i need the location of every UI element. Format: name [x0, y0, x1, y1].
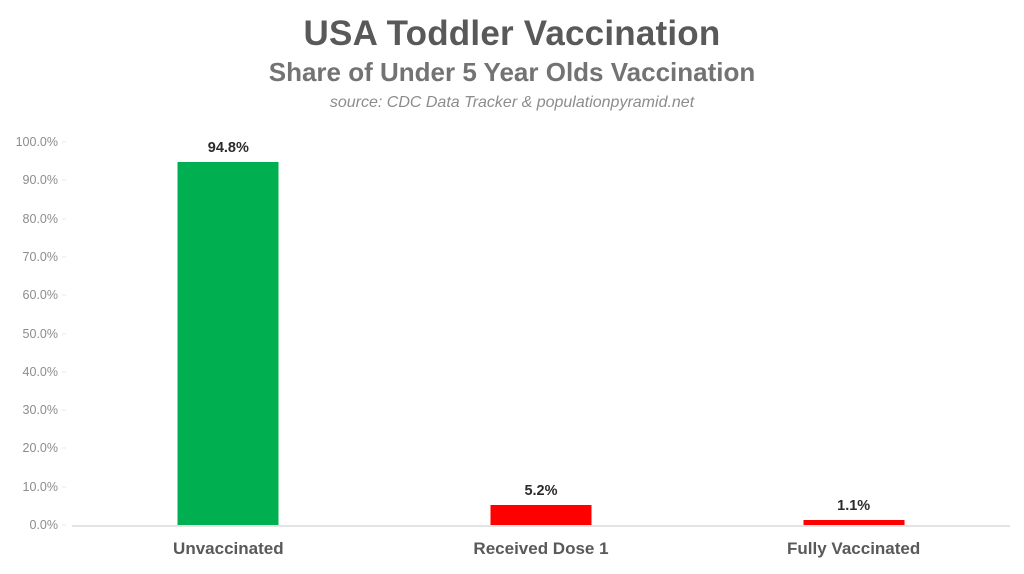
chart-header: USA Toddler Vaccination Share of Under 5… — [0, 14, 1024, 114]
y-axis-tick-mark — [62, 256, 66, 257]
y-axis-tick-mark — [62, 142, 66, 143]
x-axis-category-label: Unvaccinated — [173, 539, 284, 559]
y-axis-tick-mark — [62, 448, 66, 449]
x-axis-category-label: Received Dose 1 — [473, 539, 608, 559]
y-axis-tick-mark — [62, 218, 66, 219]
chart-source-note: source: CDC Data Tracker & populationpyr… — [0, 93, 1024, 114]
y-axis-tick-label: 30.0% — [23, 403, 58, 417]
page-title: USA Toddler Vaccination — [0, 14, 1024, 54]
y-axis-tick-label: 100.0% — [16, 135, 58, 149]
y-axis: 0.0%10.0%20.0%30.0%40.0%50.0%60.0%70.0%8… — [0, 142, 66, 525]
y-axis-tick-label: 70.0% — [23, 250, 58, 264]
y-axis-tick-label: 0.0% — [30, 518, 59, 532]
y-axis-tick-label: 80.0% — [23, 212, 58, 226]
y-axis-tick-mark — [62, 295, 66, 296]
y-axis-tick-label: 10.0% — [23, 480, 58, 494]
y-axis-tick-label: 60.0% — [23, 288, 58, 302]
axis-baseline — [72, 525, 1010, 527]
chart-container: USA Toddler Vaccination Share of Under 5… — [0, 0, 1024, 574]
bar-slot: 1.1% — [697, 142, 1010, 525]
y-axis-tick-mark — [62, 410, 66, 411]
y-axis-tick-mark — [62, 333, 66, 334]
y-axis-tick-mark — [62, 486, 66, 487]
y-axis-tick-mark — [62, 180, 66, 181]
y-axis-tick-mark — [62, 525, 66, 526]
bar-unvaccinated[interactable] — [178, 162, 279, 525]
y-axis-tick-label: 20.0% — [23, 441, 58, 455]
y-axis-tick-label: 40.0% — [23, 365, 58, 379]
x-axis-category-label: Fully Vaccinated — [787, 539, 920, 559]
bar-value-label: 1.1% — [837, 498, 870, 514]
bar-slot: 94.8% — [72, 142, 385, 525]
bar-received-dose-1[interactable] — [490, 505, 591, 525]
bar-value-label: 5.2% — [524, 483, 557, 499]
x-axis: UnvaccinatedReceived Dose 1Fully Vaccina… — [72, 535, 1010, 567]
bar-value-label: 94.8% — [208, 140, 249, 156]
plot-area: 94.8%5.2%1.1% — [72, 142, 1010, 525]
y-axis-tick-mark — [62, 371, 66, 372]
y-axis-tick-label: 90.0% — [23, 173, 58, 187]
bar-slot: 5.2% — [385, 142, 698, 525]
chart-subtitle: Share of Under 5 Year Olds Vaccination — [0, 57, 1024, 88]
y-axis-tick-label: 50.0% — [23, 327, 58, 341]
